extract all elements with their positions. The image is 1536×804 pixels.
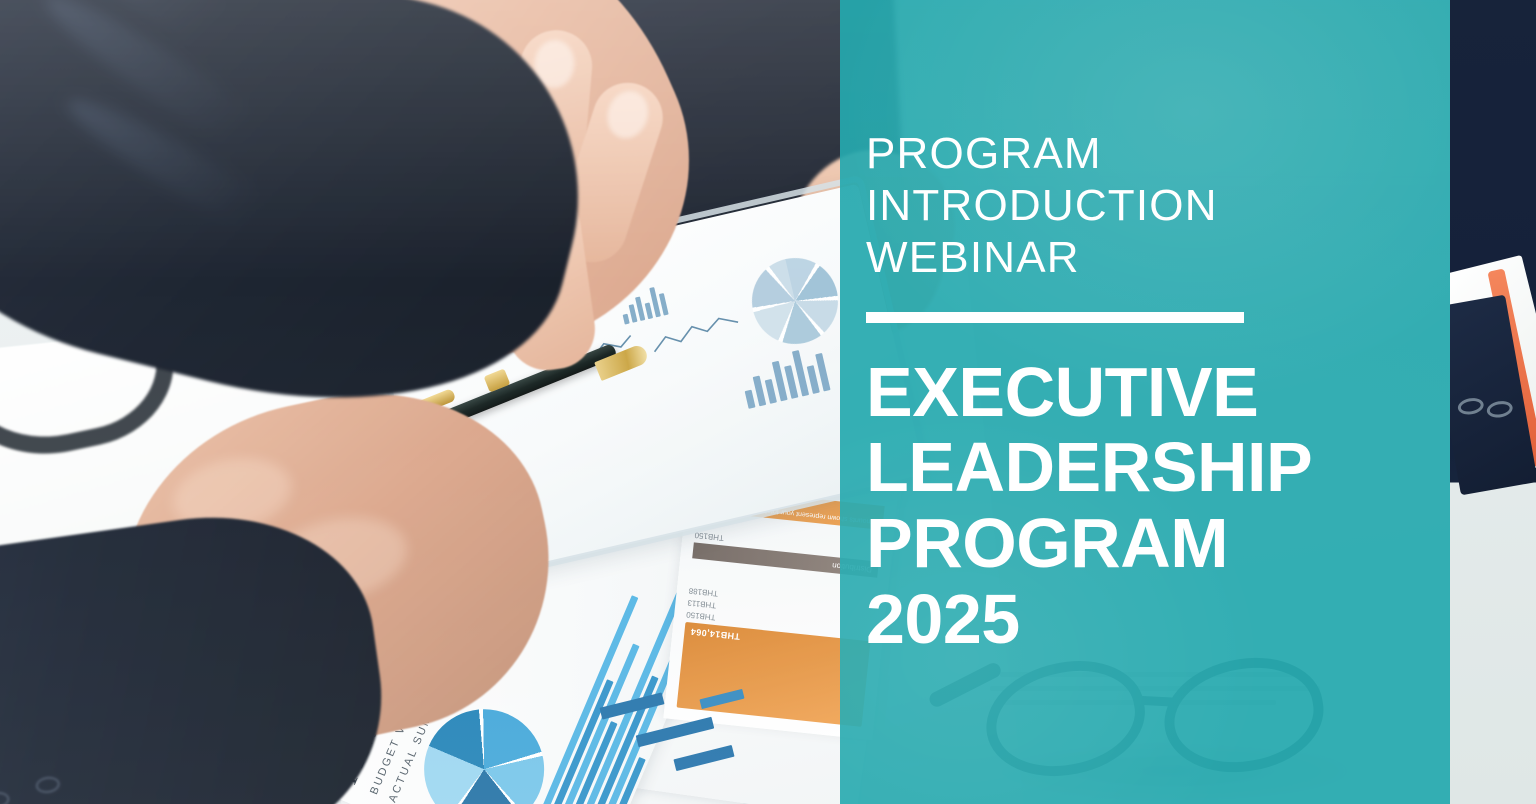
right-edge-strip [1450, 0, 1536, 804]
eyebrow-title: PROGRAM INTRODUCTION WEBINAR [866, 128, 1426, 284]
divider-rule [866, 312, 1244, 323]
page-title: EXECUTIVE LEADERSHIP PROGRAM 2025 [866, 355, 1426, 657]
orange-highlight-value: THB14,064 [690, 627, 740, 642]
banner-text-block: PROGRAM INTRODUCTION WEBINAR EXECUTIVE L… [866, 128, 1426, 657]
webinar-banner: HOW TO USE: Enter your budget for each c… [0, 0, 1536, 804]
